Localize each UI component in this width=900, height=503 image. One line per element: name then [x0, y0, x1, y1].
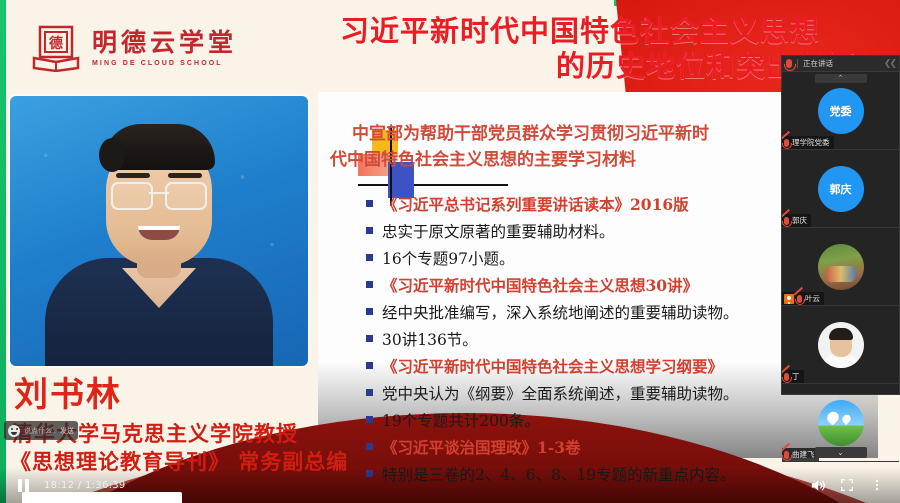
mic-muted-icon [784, 373, 789, 381]
bullet-text: 《习近平谈治国理政》1-3卷 [382, 439, 581, 458]
chat-input-placeholder[interactable]: 说点什么... [24, 426, 56, 436]
bullet-square-icon [366, 416, 373, 423]
bullet-square-icon [366, 362, 373, 369]
mic-muted-icon [797, 295, 802, 303]
volume-button[interactable] [808, 476, 826, 494]
logo-title-en: MING DE CLOUD SCHOOL [92, 60, 237, 67]
host-badge-icon [784, 294, 794, 304]
slide-heading-line2: 代中国特色社会主义思想的主要学习材料 [330, 148, 832, 174]
participant-name: 叶云 [805, 293, 820, 304]
more-vertical-icon [870, 477, 884, 493]
bullet-square-icon [366, 443, 373, 450]
slide-heading-line1: 中宣部为帮助干部党员群众学习贯彻习近平新时 [352, 124, 709, 144]
participant-name: 郭庆 [792, 215, 807, 226]
list-item: 忠实于原文原著的重要辅助材料。 [366, 223, 836, 247]
exit-fullscreen-button[interactable] [838, 476, 856, 494]
mic-muted-icon [784, 451, 789, 459]
participant-namebar: 郭庆 [782, 214, 811, 227]
list-item: 党中央认为《纲要》全面系统阐述，重要辅助读物。 [366, 385, 836, 409]
mic-muted-icon [784, 217, 789, 225]
bullet-text: 忠实于原文原著的重要辅助材料。 [382, 223, 615, 242]
deck-title: 习近平新时代中国特色社会主义思想 的历史地位和突出创新 [300, 14, 860, 85]
avatar: 党委 [818, 88, 864, 134]
svg-text:德: 德 [49, 35, 63, 52]
participant-namebar: 丁 [782, 370, 804, 383]
list-item: 《习近平谈治国理政》1-3卷 [366, 439, 836, 463]
speaker-portrait [44, 156, 274, 366]
book-logo-icon: 德 [30, 24, 82, 72]
bullet-text: 经中央批准编写，深入系统地阐述的重要辅助读物。 [382, 304, 739, 323]
volume-icon [809, 477, 826, 494]
speaker-video [10, 96, 308, 366]
mic-muted-icon [786, 59, 792, 68]
emoji-icon[interactable] [8, 425, 20, 437]
exit-fullscreen-icon [839, 477, 855, 493]
participant-tile[interactable]: 叶云 [782, 228, 899, 306]
participant-name: 理学院党委 [792, 137, 830, 148]
bottom-white-tab [22, 492, 182, 503]
bullet-text: 19个专题共计200条。 [382, 412, 540, 431]
deck-title-line2: 的历史地位和突出创新 [300, 49, 860, 84]
bullet-text: 《习近平新时代中国特色社会主义思想学习纲要》 [382, 358, 723, 377]
avatar [818, 400, 864, 446]
chat-input-overlay[interactable]: 说点什么... 发送 [4, 421, 78, 440]
list-item: 19个专题共计200条。 [366, 412, 836, 436]
page-up-button[interactable]: ⌃ [815, 74, 867, 83]
bullet-square-icon [366, 308, 373, 315]
bullet-square-icon [366, 254, 373, 261]
deck-title-line1: 习近平新时代中国特色社会主义思想 [340, 14, 820, 48]
list-item: 30讲136节。 [366, 331, 836, 355]
bullet-text: 党中央认为《纲要》全面系统阐述，重要辅助读物。 [382, 385, 739, 404]
list-item: 《习近平新时代中国特色社会主义思想学习纲要》 [366, 358, 836, 382]
participant-namebar: 叶云 [782, 292, 824, 305]
participant-name: 丁 [792, 371, 800, 382]
player-time: 18:12 / 1:36:39 [44, 480, 126, 491]
divider [797, 59, 798, 68]
bullet-text: 16个专题97小题。 [382, 250, 514, 269]
participant-name: 曲建飞 [792, 449, 815, 460]
pause-icon [18, 479, 29, 492]
list-item: 《习近平新时代中国特色社会主义思想30讲》 [366, 277, 836, 301]
bullet-square-icon [366, 281, 373, 288]
speaker-name: 刘书林 [14, 378, 122, 412]
slide-bullet-list: 《习近平总书记系列重要讲话读本》2016版 忠实于原文原著的重要辅助材料。 16… [366, 196, 836, 493]
participant-namebar: 曲建飞 [782, 448, 819, 461]
bullet-square-icon [366, 200, 373, 207]
bullet-square-icon [366, 389, 373, 396]
list-item: 《习近平总书记系列重要讲话读本》2016版 [366, 196, 836, 220]
avatar [818, 322, 864, 368]
participant-tile[interactable]: 曲建飞 ⌄ [782, 384, 899, 462]
participants-panel: 正在讲话 ❮❮ ⌃ 党委 理学院党委 郭庆 郭庆 叶云 [781, 55, 900, 395]
chat-send-button[interactable]: 发送 [60, 426, 74, 436]
more-options-button[interactable] [868, 476, 886, 494]
mic-muted-icon [784, 139, 789, 147]
bullet-text: 《习近平总书记系列重要讲话读本》2016版 [382, 196, 689, 215]
bullet-text: 《习近平新时代中国特色社会主义思想30讲》 [382, 277, 698, 296]
list-item: 经中央批准编写，深入系统地阐述的重要辅助读物。 [366, 304, 836, 328]
avatar: 郭庆 [818, 166, 864, 212]
panel-title: 正在讲话 [803, 58, 833, 69]
participants-panel-header: 正在讲话 ❮❮ [782, 56, 899, 72]
page-down-button[interactable]: ⌄ [815, 447, 867, 458]
avatar [818, 244, 864, 290]
bullet-square-icon [366, 335, 373, 342]
participant-namebar: 理学院党委 [782, 136, 834, 149]
bullet-text: 30讲136节。 [382, 331, 478, 350]
logo-title-cn: 明德云学堂 [92, 30, 237, 55]
slide-heading: 中宣部为帮助干部党员群众学习贯彻习近平新时 代中国特色社会主义思想的主要学习材料 [352, 122, 832, 173]
chevron-collapse-icon[interactable]: ❮❮ [884, 58, 895, 69]
participant-tile[interactable]: 郭庆 郭庆 [782, 150, 899, 228]
bullet-square-icon [366, 227, 373, 234]
participant-tile[interactable]: ⌃ 党委 理学院党委 [782, 72, 899, 150]
participant-tile[interactable]: 丁 [782, 306, 899, 384]
list-item: 16个专题97小题。 [366, 250, 836, 274]
screen-root: 德 明德云学堂 MING DE CLOUD SCHOOL 习近平新时代中国特色社… [0, 0, 900, 503]
brand-logo: 德 明德云学堂 MING DE CLOUD SCHOOL [30, 24, 237, 72]
